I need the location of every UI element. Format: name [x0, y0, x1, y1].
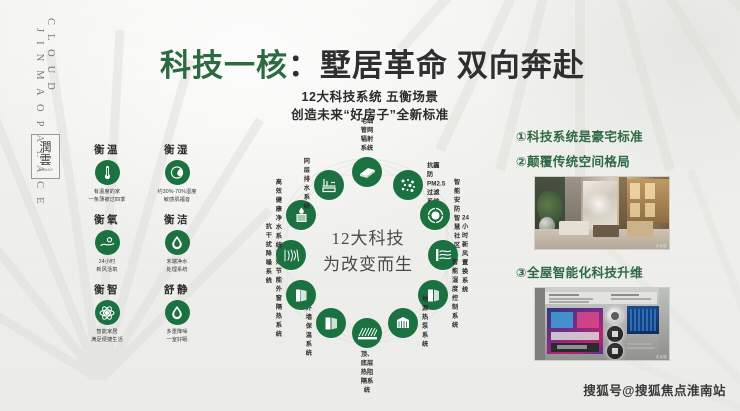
smart-home-exhibit-photo: 实景图 — [534, 287, 670, 361]
page-title: 科技一核：墅居革命 双向奔赴 — [160, 40, 580, 85]
wheel-node-pm25-filter[interactable]: 抗霾防PM2.5 过滤系统 — [393, 170, 423, 200]
right-panel-item-3: ③全屋智能化科技升维 — [516, 262, 716, 281]
logo-char-yun: 雲 — [39, 154, 51, 167]
feature-row: 衡氧 24小时 新风活氧 衡洁 末端净水 处理系统 — [78, 212, 206, 274]
wheel-node-label: 地源热泵系统 — [422, 296, 428, 350]
wheel-node-label: 毛细管网辐射系统 — [360, 118, 375, 154]
feature-title: 舒静 — [148, 282, 206, 297]
wheel-node-label: 智能湿度 控制系统 — [452, 259, 458, 331]
smart-atom-icon — [95, 300, 120, 325]
wheel-node-label: 抗干扰 降噪系统 — [266, 224, 272, 287]
lobby-photo: 实景图 — [534, 176, 670, 250]
watermark-text: 搜狐号@搜狐焦点淮南站 — [583, 380, 726, 399]
feature-desc: 24小时 新风活氧 — [78, 258, 136, 274]
wheel-node-label: 顶、底层热阻隔系统 — [360, 351, 375, 396]
watermark: 搜狐号@搜狐焦点淮南站 — [583, 380, 726, 399]
wheel-node-label: 高效健康 净水系统 — [276, 179, 282, 251]
wheel-node-thermal-barrier[interactable]: 顶、底层热阻隔系统 — [352, 318, 382, 348]
photo-watermark: 实景图 — [656, 354, 667, 359]
radiant-panel-icon — [352, 157, 382, 187]
feature-title: 衡温 — [78, 142, 136, 157]
feature-title: 衡洁 — [148, 212, 206, 227]
right-panel: ①科技系统是豪宅标准 ②颠覆传统空间格局 实景图 ③全屋智能化科技升维 — [516, 126, 716, 373]
wheel-node-radiant-panel[interactable]: 毛细管网辐射系统 — [352, 157, 382, 187]
technology-wheel: 12大科技 为改变而生 毛细管网辐射系统 抗霾防PM2.5 过滤系统 智能安防 … — [228, 140, 508, 365]
feature-item-hengjie: 衡洁 末端净水 处理系统 — [148, 212, 206, 274]
quiet-drop-icon — [165, 300, 190, 325]
feature-item-hengwen: 衡温 有温度的家 一条薄被过四季 — [78, 142, 136, 204]
fresh-air-icon — [95, 230, 120, 255]
wheel-node-window-insulation[interactable]: 高效节能 外窗隔热系统 — [286, 280, 316, 310]
security-shield-icon — [420, 200, 450, 230]
photo-watermark: 实景图 — [656, 243, 667, 248]
feature-desc: 约30%-70%湿度 敏感肌福音 — [148, 188, 206, 204]
wheel-node-label: 24小时 新风置换系统 — [462, 215, 469, 296]
feature-item-hengzhi: 衡智 智能家居 满足便捷生活 — [78, 282, 136, 344]
wheel-node-label: 同层排水系统 — [304, 158, 310, 212]
right-panel-item-1: ①科技系统是豪宅标准 — [516, 126, 716, 145]
logo-subtext: JINMAO — [38, 168, 53, 172]
feature-title: 衡氧 — [78, 212, 136, 227]
thermal-barrier-icon — [352, 318, 382, 348]
water-purification-icon — [286, 200, 316, 230]
wheel-node-security-shield[interactable]: 智能安防 智慧社区 — [420, 200, 450, 230]
feature-desc: 有温度的家 一条薄被过四季 — [78, 188, 136, 204]
page-title-green: 科技一核 — [160, 48, 288, 83]
right-panel-item-2: ②颠覆传统空间格局 — [516, 151, 716, 170]
feature-item-hengyang: 衡氧 24小时 新风活氧 — [78, 212, 136, 274]
same-floor-drainage-icon — [314, 170, 344, 200]
feature-desc: 多重降噪 一室好眠 — [148, 328, 206, 344]
wheel-node-ground-source-pump[interactable]: 地源热泵系统 — [388, 308, 418, 338]
wall-insulation-icon — [316, 308, 346, 338]
ground-source-pump-icon — [388, 308, 418, 338]
slide-canvas: C L O U D J I N M A O P A L A C E 潤 雲 JI… — [0, 0, 740, 411]
brand-logo-box: 潤 雲 JINMAO — [31, 134, 60, 179]
humidity-drop-icon — [165, 160, 190, 185]
feature-desc: 末端净水 处理系统 — [148, 258, 206, 274]
thermometer-icon — [95, 160, 120, 185]
pm25-filter-icon — [393, 170, 423, 200]
feature-item-hengshi: 衡湿 约30%-70%湿度 敏感肌福音 — [148, 142, 206, 204]
feature-desc: 智能家居 满足便捷生活 — [78, 328, 136, 344]
brand-vertical-line2: J I N M A O P A L A C E — [34, 28, 45, 207]
feature-row: 衡温 有温度的家 一条薄被过四季 衡湿 约30%-70%湿度 敏感肌福音 — [78, 142, 206, 204]
wheel-node-same-floor-drainage[interactable]: 同层排水系统 — [314, 170, 344, 200]
wheel-node-wall-insulation[interactable]: 高效外墙保温系统 — [316, 308, 346, 338]
feature-title: 衡湿 — [148, 142, 206, 157]
page-title-dark: ：墅居革命 双向奔赴 — [288, 48, 585, 83]
feature-grid: 衡温 有温度的家 一条薄被过四季 衡湿 约30%-70%湿度 敏感肌福音 衡氧 — [78, 142, 206, 352]
wheel-node-water-purification[interactable]: 高效健康 净水系统 — [286, 200, 316, 230]
window-insulation-icon — [286, 280, 316, 310]
logo-char-run: 潤 — [39, 141, 51, 154]
subtitle-line1: 12大科技系统 五衡场景 — [160, 86, 580, 105]
feature-row: 衡智 智能家居 满足便捷生活 舒静 多重降噪 一室好眠 — [78, 282, 206, 344]
water-drop-icon — [165, 230, 190, 255]
feature-item-shujing: 舒静 多重降噪 一室好眠 — [148, 282, 206, 344]
feature-title: 衡智 — [78, 282, 136, 297]
